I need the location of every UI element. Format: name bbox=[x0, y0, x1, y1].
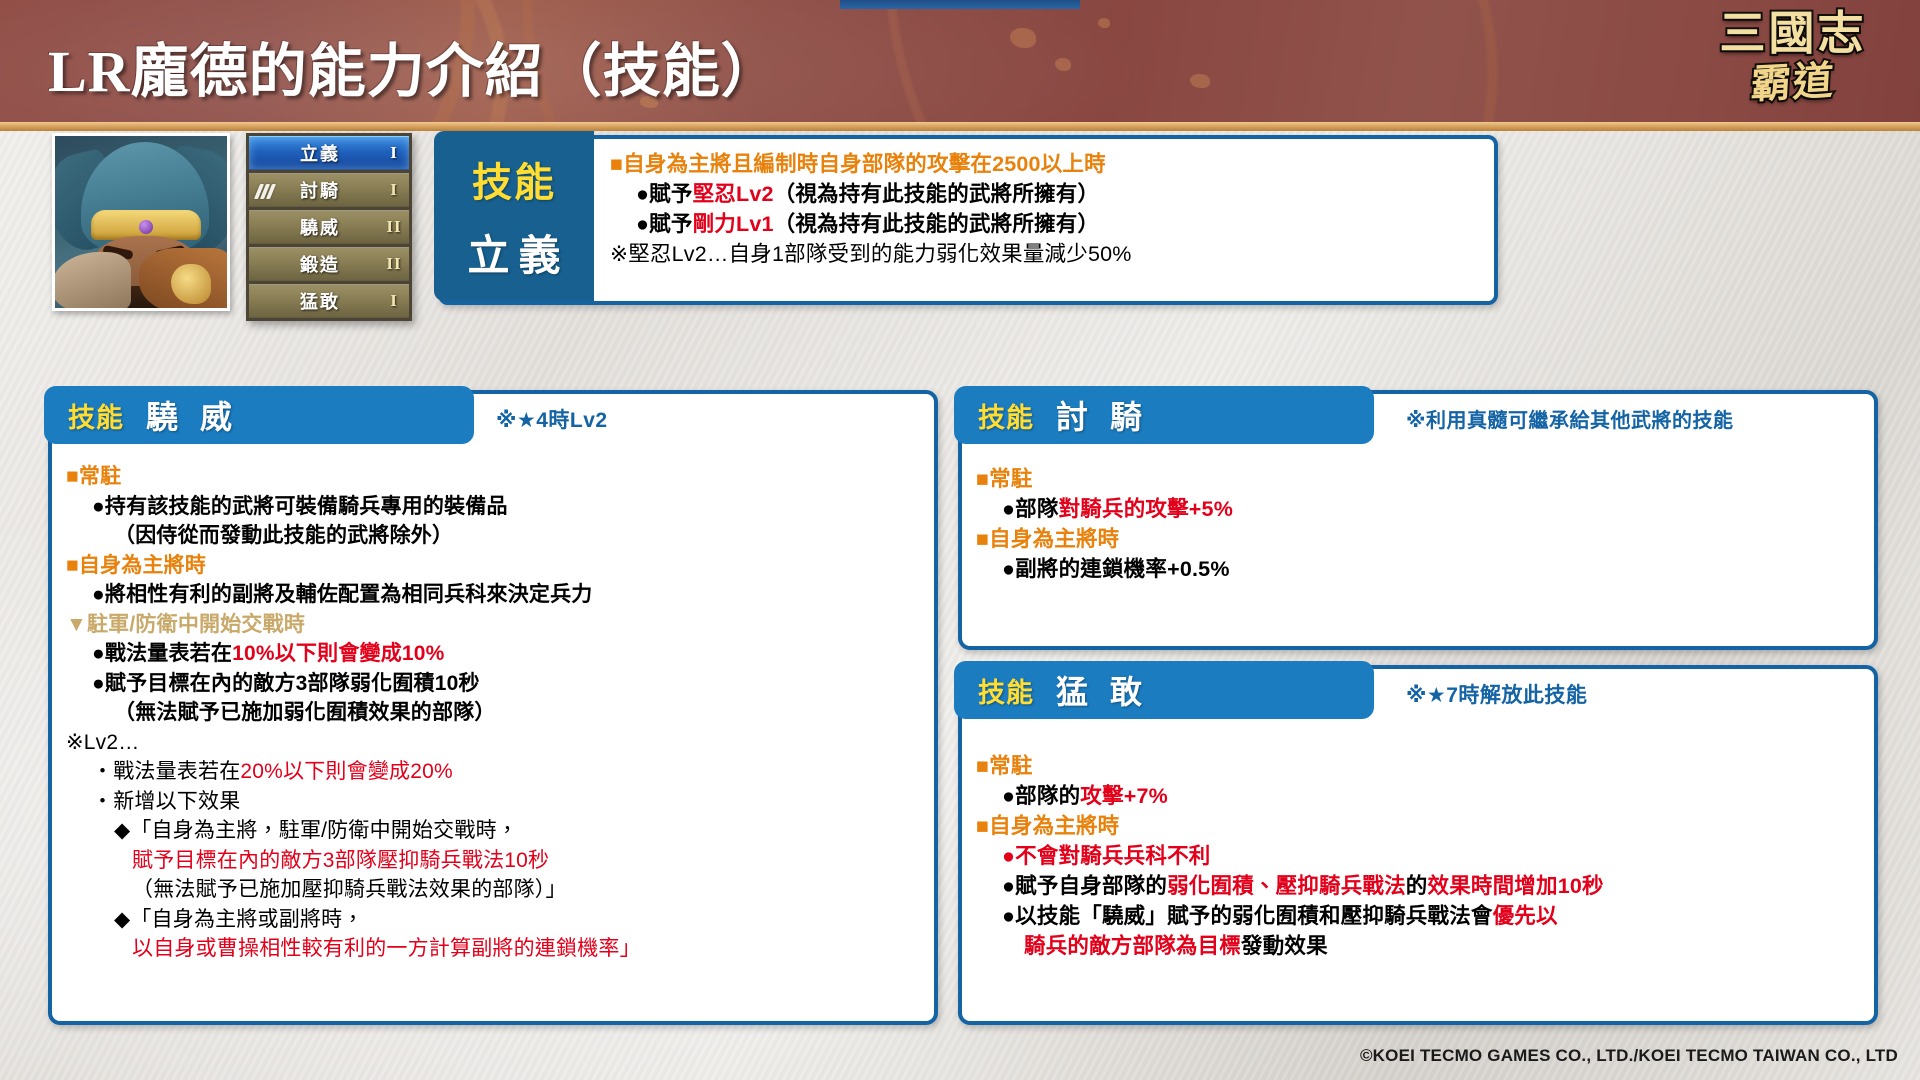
skill-card-note-mengan: ※★7時解放此技能 bbox=[1406, 679, 1587, 709]
text-segment-highlight: 20%以下則會變成20% bbox=[240, 760, 452, 783]
skill-list-item-name: 鍛造 bbox=[249, 251, 379, 277]
text-segment-highlight: 騎兵的敵方部隊為目標 bbox=[1024, 934, 1241, 958]
text-line: ●賦予堅忍Lv2（視為持有此技能的武將所擁有） bbox=[610, 179, 1488, 209]
skill-card-kind-label: 技能 bbox=[68, 396, 124, 435]
text-line: ■自身為主將時 bbox=[976, 524, 1866, 554]
header-speck-3 bbox=[1098, 18, 1110, 28]
text-line: ・戰法量表若在20%以下則會變成20% bbox=[66, 757, 926, 787]
text-segment-highlight: 堅忍Lv2 bbox=[693, 182, 774, 206]
text-line: ▼駐軍/防衛中開始交戰時 bbox=[66, 610, 926, 640]
text-line: ●部隊的攻擊+7% bbox=[976, 781, 1866, 811]
text-segment: ・戰法量表若在 bbox=[92, 760, 240, 783]
text-segment: （視為持有此技能的武將所擁有） bbox=[774, 182, 1100, 206]
text-line: ・新增以下效果 bbox=[66, 787, 926, 817]
text-line: （無法賦予已施加弱化囿積效果的部隊） bbox=[66, 698, 926, 728]
fur-collar bbox=[52, 252, 131, 311]
text-segment: 的 bbox=[1406, 874, 1428, 898]
inherit-slash-icon bbox=[257, 184, 275, 198]
text-line: ●以技能「驍威」賦予的弱化囿積和壓抑騎兵戰法會優先以 bbox=[976, 901, 1866, 931]
text-line: ●賦予目標在內的敵方3部隊弱化囿積10秒 bbox=[66, 669, 926, 699]
skill-card-kind-label: 技能 bbox=[978, 671, 1034, 710]
text-line: ●部隊對騎兵的攻擊+5% bbox=[976, 494, 1866, 524]
text-line: （無法賦予已施加壓抑騎兵戰法效果的部隊）」 bbox=[66, 875, 926, 905]
skill-card-text-liyi: ■自身為主將且編制時自身部隊的攻擊在2500以上時 ●賦予堅忍Lv2（視為持有此… bbox=[610, 149, 1488, 269]
skill-list-item-xiaowei[interactable]: 驍威 II bbox=[249, 210, 409, 244]
text-line: ■自身為主將且編制時自身部隊的攻擊在2500以上時 bbox=[610, 149, 1488, 179]
skill-list-item-level: II bbox=[379, 254, 409, 274]
text-segment: ●賦予 bbox=[636, 212, 693, 236]
text-segment-highlight: 效果時間增加10秒 bbox=[1428, 874, 1604, 898]
skill-list-item-name: 猛敢 bbox=[249, 288, 379, 314]
game-logo-top-text: 三國志 bbox=[1698, 8, 1888, 60]
skill-card-xiaowei: 技能 驍 威 ※★4時Lv2 ■常駐 ●持有該技能的武將可裝備騎兵專用的裝備品 … bbox=[48, 390, 938, 1025]
skill-card-kind-label: 技能 bbox=[978, 396, 1034, 435]
skill-card-header-mengan: 技能 猛 敢 bbox=[954, 661, 1374, 719]
text-segment: （視為持有此技能的武將所擁有） bbox=[774, 212, 1100, 236]
footer-copyright: ©KOEI TECMO GAMES CO., LTD./KOEI TECMO T… bbox=[1360, 1046, 1898, 1066]
skill-list-item-duanzao[interactable]: 鍛造 II bbox=[249, 247, 409, 281]
text-line: 騎兵的敵方部隊為目標發動效果 bbox=[976, 931, 1866, 961]
text-segment: ●賦予自身部隊的 bbox=[1002, 874, 1167, 898]
header-gold-underline bbox=[0, 122, 1920, 131]
skill-list-item-taoqi[interactable]: 討騎 I bbox=[249, 173, 409, 207]
skill-card-note-taoqi: ※利用真髓可繼承給其他武將的技能 bbox=[1406, 404, 1733, 433]
skill-list-item-name: 驍威 bbox=[249, 214, 379, 240]
skill-list-item-liyi[interactable]: 立義 I bbox=[249, 136, 409, 170]
text-line: ●將相性有利的副將及輔佐配置為相同兵科來決定兵力 bbox=[66, 580, 926, 610]
skill-card-name-label: 立義 bbox=[458, 222, 569, 283]
skill-card-text-taoqi: ■常駐 ●部隊對騎兵的攻擊+5% ■自身為主將時 ●副將的連鎖機率+0.5% bbox=[976, 464, 1866, 584]
skill-card-header-xiaowei: 技能 驍 威 bbox=[44, 386, 474, 444]
text-segment: ●以技能「驍威」賦予的弱化囿積和壓抑騎兵戰法會 bbox=[1002, 904, 1493, 928]
text-line: ●持有該技能的武將可裝備騎兵專用的裝備品 bbox=[66, 492, 926, 522]
game-logo-bottom-text: 霸道 bbox=[1696, 55, 1889, 111]
skill-card-taoqi: 技能 討 騎 ※利用真髓可繼承給其他武將的技能 ■常駐 ●部隊對騎兵的攻擊+5%… bbox=[958, 390, 1878, 650]
skill-card-header-liyi: 技能 立義 bbox=[434, 131, 594, 301]
text-line: ◆「自身為主將，駐軍/防衛中開始交戰時， bbox=[66, 816, 926, 846]
skill-card-name-label: 驍 威 bbox=[146, 392, 239, 438]
helmet-gem bbox=[139, 220, 153, 234]
skill-list-item-name: 立義 bbox=[249, 140, 379, 166]
header-speck-1 bbox=[1010, 28, 1036, 48]
text-segment-highlight: 對騎兵的攻擊+5% bbox=[1059, 497, 1233, 521]
skill-card-text-xiaowei: ■常駐 ●持有該技能的武將可裝備騎兵專用的裝備品 （因侍從而發動此技能的武將除外… bbox=[66, 462, 926, 964]
skill-card-text-mengan: ■常駐 ●部隊的攻擊+7% ■自身為主將時 ●不會對騎兵兵科不利 ●賦予自身部隊… bbox=[976, 751, 1866, 961]
skill-list-item-level: I bbox=[379, 143, 409, 163]
text-line: ●賦予剛力Lv1（視為持有此技能的武將所擁有） bbox=[610, 209, 1488, 239]
text-segment-highlight: 弱化囿積、壓抑騎兵戰法 bbox=[1167, 874, 1406, 898]
text-line: ■自身為主將時 bbox=[976, 811, 1866, 841]
text-segment: ●賦予 bbox=[636, 182, 693, 206]
skill-card-kind-label: 技能 bbox=[472, 150, 556, 208]
header-speck-2 bbox=[1055, 58, 1071, 71]
skill-card-header-taoqi: 技能 討 騎 bbox=[954, 386, 1374, 444]
skill-list-panel[interactable]: 立義 I 討騎 I 驍威 II 鍛造 II 猛敢 I bbox=[246, 133, 412, 321]
character-portrait bbox=[52, 133, 230, 311]
text-line: ◆「自身為主將或副將時， bbox=[66, 905, 926, 935]
skill-list-item-mengan[interactable]: 猛敢 I bbox=[249, 284, 409, 318]
text-line: ■常駐 bbox=[976, 751, 1866, 781]
skill-card-liyi: 技能 立義 ■自身為主將且編制時自身部隊的攻擊在2500以上時 ●賦予堅忍Lv2… bbox=[438, 135, 1498, 305]
skill-card-name-label: 討 騎 bbox=[1056, 392, 1149, 438]
text-line: 賦予目標在內的敵方3部隊壓抑騎兵戰法10秒 bbox=[66, 846, 926, 876]
text-line: ●戰法量表若在10%以下則會變成10% bbox=[66, 639, 926, 669]
text-line: ■常駐 bbox=[66, 462, 926, 492]
text-line: ●不會對騎兵兵科不利 bbox=[976, 841, 1866, 871]
game-logo: 三國志 霸道 bbox=[1698, 8, 1888, 134]
page-title: LR龐德的能力介紹（技能） bbox=[48, 24, 780, 108]
text-segment-highlight: 攻擊+7% bbox=[1080, 784, 1168, 808]
skill-card-mengan: 技能 猛 敢 ※★7時解放此技能 ■常駐 ●部隊的攻擊+7% ■自身為主將時 ●… bbox=[958, 665, 1878, 1025]
text-segment: ●戰法量表若在 bbox=[92, 642, 232, 665]
text-segment: ●部隊的 bbox=[1002, 784, 1080, 808]
skill-card-name-label: 猛 敢 bbox=[1056, 667, 1149, 713]
text-line: ●賦予自身部隊的弱化囿積、壓抑騎兵戰法的效果時間增加10秒 bbox=[976, 871, 1866, 901]
text-line: ※堅忍Lv2…自身1部隊受到的能力弱化效果量減少50% bbox=[610, 239, 1488, 269]
text-segment-highlight: 剛力Lv1 bbox=[693, 212, 774, 236]
skill-card-note-xiaowei: ※★4時Lv2 bbox=[496, 404, 608, 434]
text-line: ※Lv2… bbox=[66, 728, 926, 758]
header-top-tab bbox=[840, 0, 1080, 9]
text-line: 以自身或曹操相性較有利的一方計算副將的連鎖機率」 bbox=[66, 934, 926, 964]
text-line: （因侍從而發動此技能的武將除外） bbox=[66, 521, 926, 551]
header-speck-5 bbox=[1190, 74, 1210, 88]
text-line: ■常駐 bbox=[976, 464, 1866, 494]
text-segment-highlight: 優先以 bbox=[1493, 904, 1558, 928]
text-segment: ●部隊 bbox=[1002, 497, 1059, 521]
skill-list-item-level: I bbox=[379, 180, 409, 200]
text-segment: 發動效果 bbox=[1241, 934, 1328, 958]
gold-ornament bbox=[171, 264, 211, 304]
skill-list-item-level: II bbox=[379, 217, 409, 237]
text-line: ●副將的連鎖機率+0.5% bbox=[976, 554, 1866, 584]
skill-list-item-level: I bbox=[379, 291, 409, 311]
text-line: ■自身為主將時 bbox=[66, 551, 926, 581]
text-segment-highlight: 10%以下則會變成10% bbox=[232, 642, 444, 665]
